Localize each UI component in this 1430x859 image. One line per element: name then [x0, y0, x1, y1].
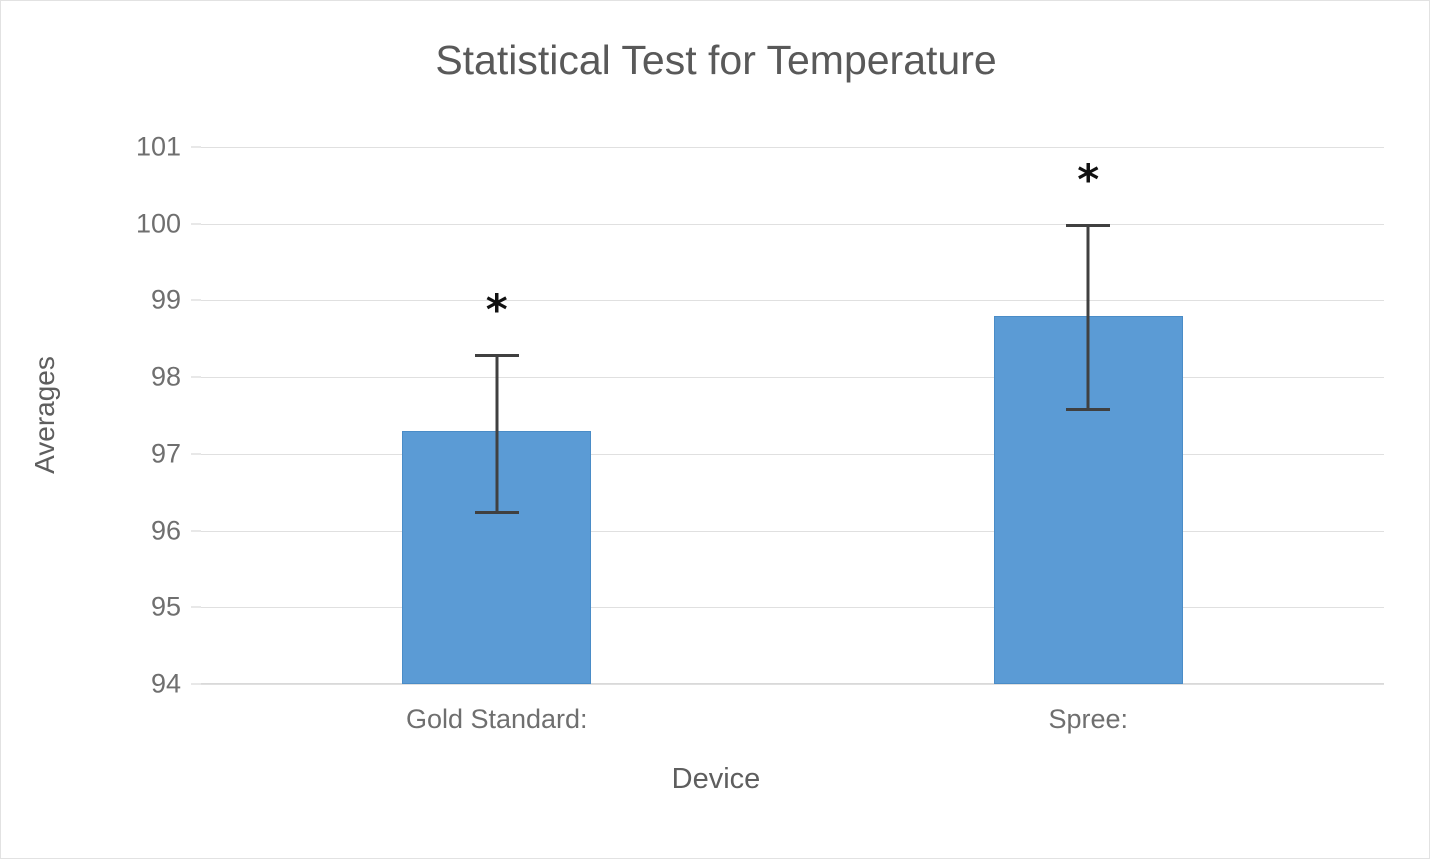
significance-asterisk: *: [1077, 159, 1099, 201]
chart-title: Statistical Test for Temperature: [1, 37, 1430, 84]
y-axis-tick-mark: [191, 300, 201, 301]
y-axis-tick-mark: [191, 147, 201, 148]
y-axis-tick-label: 94: [91, 669, 181, 700]
gridline: [201, 377, 1384, 378]
x-axis-tick-label: Gold Standard:: [406, 704, 588, 735]
y-axis-tick-mark: [191, 453, 201, 454]
y-axis-tick-label: 100: [91, 208, 181, 239]
y-axis-tick-mark: [191, 223, 201, 224]
y-axis-tick-label: 98: [91, 362, 181, 393]
error-bar-stem: [1087, 224, 1090, 408]
error-bar-cap-lower: [475, 511, 519, 514]
significance-asterisk: *: [486, 289, 508, 331]
y-axis-tick-mark: [191, 377, 201, 378]
error-bar-stem: [495, 354, 498, 511]
error-bar-cap-upper: [1066, 224, 1110, 227]
y-axis-tick-mark: [191, 684, 201, 685]
y-axis-tick-label: 97: [91, 438, 181, 469]
error-bar-cap-upper: [475, 354, 519, 357]
x-axis-tick-label: Spree:: [1048, 704, 1128, 735]
gridline: [201, 684, 1384, 685]
gridline: [201, 300, 1384, 301]
gridline: [201, 454, 1384, 455]
gridline: [201, 607, 1384, 608]
x-axis-line: [201, 683, 1384, 684]
y-axis-tick-mark: [191, 530, 201, 531]
y-axis-tick-mark: [191, 607, 201, 608]
y-axis-tick-label: 101: [91, 132, 181, 163]
y-axis-tick-label: 99: [91, 285, 181, 316]
plot-area: [201, 147, 1384, 684]
y-axis-tick-label: 95: [91, 592, 181, 623]
chart-container: Statistical Test for Temperature Average…: [0, 0, 1430, 859]
gridline: [201, 224, 1384, 225]
y-axis-tick-label: 96: [91, 515, 181, 546]
gridline: [201, 531, 1384, 532]
x-axis-title: Device: [1, 763, 1430, 796]
error-bar-cap-lower: [1066, 408, 1110, 411]
gridline: [201, 147, 1384, 148]
y-axis-title: Averages: [29, 356, 61, 474]
